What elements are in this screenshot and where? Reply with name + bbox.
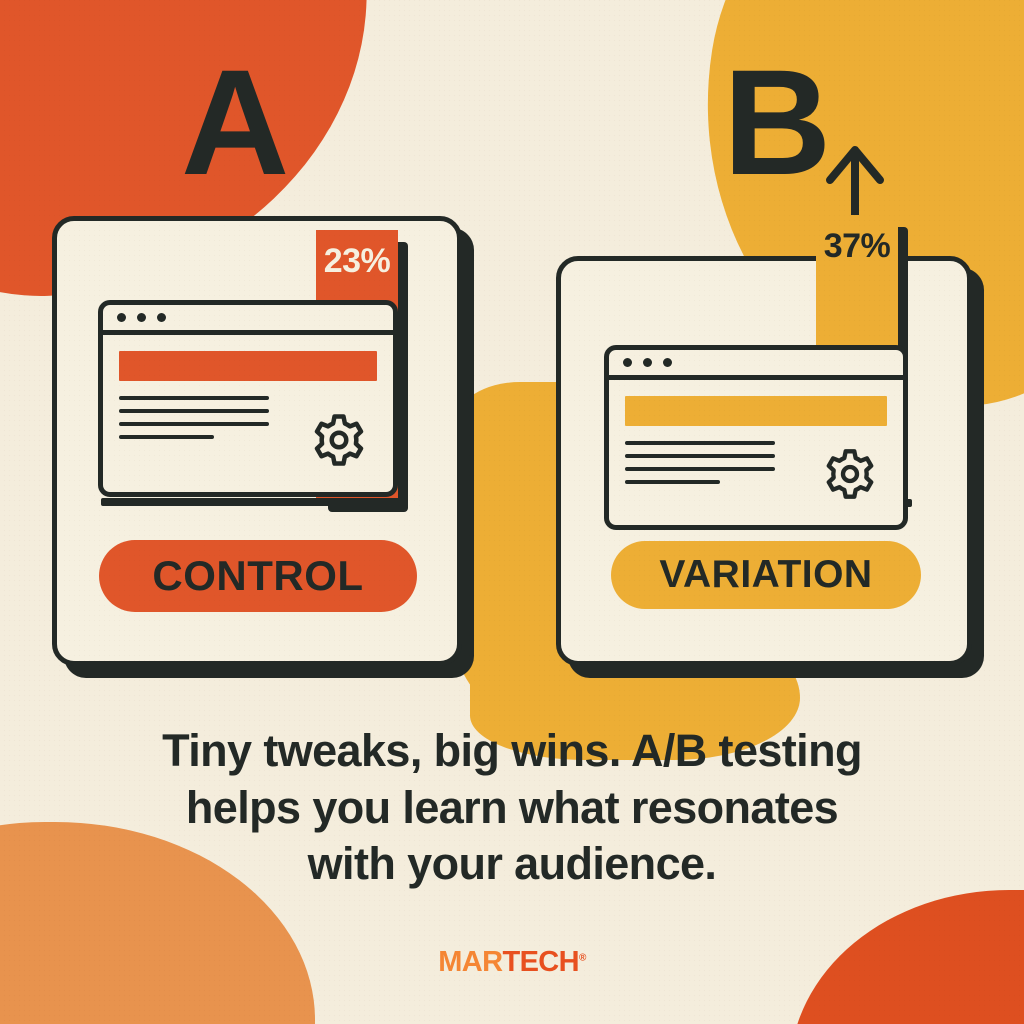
text-line	[625, 441, 775, 445]
variant-a-letter: A	[181, 47, 287, 197]
text-line	[119, 409, 269, 413]
gear-icon[interactable]	[823, 447, 877, 501]
variant-a-button[interactable]: CONTROL	[99, 540, 417, 612]
text-line	[625, 467, 775, 471]
caption-line-1: Tiny tweaks, big wins. A/B testing	[60, 723, 964, 780]
browser-content	[609, 380, 903, 525]
text-lines	[119, 396, 269, 439]
text-lines	[625, 441, 775, 484]
variant-b-button-label: VARIATION	[659, 553, 872, 597]
variant-a-baseline	[101, 498, 406, 506]
variant-b-browser-preview[interactable]	[604, 345, 908, 530]
text-line	[625, 480, 720, 484]
logo-part-mar: MAR	[438, 946, 502, 978]
text-line	[119, 422, 269, 426]
variant-b-card[interactable]: 37%	[556, 256, 972, 666]
caption-text: Tiny tweaks, big wins. A/B testing helps…	[60, 723, 964, 893]
headline-block	[119, 351, 377, 381]
variant-b-button[interactable]: VARIATION	[611, 541, 921, 609]
text-line	[119, 435, 214, 439]
headline-block	[625, 396, 887, 426]
martech-logo[interactable]: MARTECH®	[0, 946, 1024, 979]
browser-dot-2	[137, 313, 146, 322]
variant-a-browser-preview[interactable]	[98, 300, 398, 497]
browser-titlebar	[103, 305, 393, 335]
browser-dot-1	[623, 358, 632, 367]
variant-a-button-label: CONTROL	[152, 552, 363, 600]
browser-titlebar	[609, 350, 903, 380]
caption-line-2: helps you learn what resonates	[60, 780, 964, 837]
caption-line-3: with your audience.	[60, 836, 964, 893]
text-line	[625, 454, 775, 458]
variant-a-card[interactable]: 23%	[52, 216, 462, 666]
variant-b-metric-label: 37%	[816, 215, 898, 266]
browser-dot-1	[117, 313, 126, 322]
variant-a-metric-label: 23%	[316, 230, 398, 281]
logo-part-tech: TECH	[502, 946, 579, 978]
browser-dot-3	[663, 358, 672, 367]
text-line	[119, 396, 269, 400]
logo-trademark: ®	[579, 952, 586, 963]
poster-canvas: A B 23%	[0, 0, 1024, 1024]
browser-dot-2	[643, 358, 652, 367]
gear-icon[interactable]	[311, 412, 367, 468]
variant-b-letter: B	[723, 47, 829, 197]
browser-content	[103, 335, 393, 492]
browser-dot-3	[157, 313, 166, 322]
